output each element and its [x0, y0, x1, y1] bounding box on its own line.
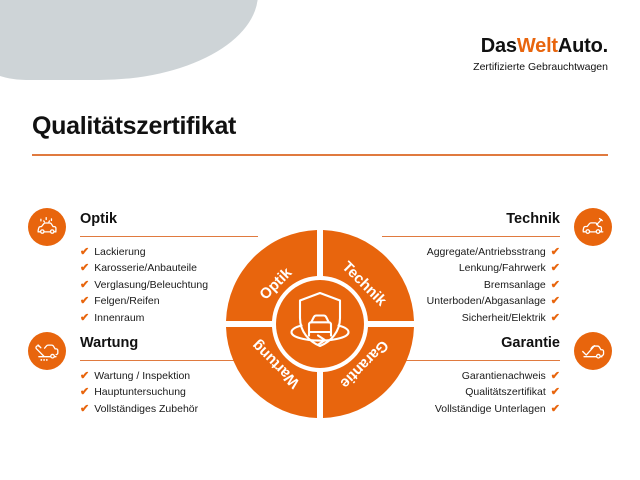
- list-item-label: Wartung / Inspektion: [94, 370, 190, 382]
- check-icon: ✔: [551, 246, 560, 258]
- brand-logo-das: Das: [481, 35, 517, 57]
- check-icon: ✔: [551, 386, 560, 398]
- list-item-label: Karosserie/Anbauteile: [94, 262, 197, 274]
- section-wartung-list: ✔Wartung / Inspektion ✔Hauptuntersuchung…: [28, 368, 258, 418]
- list-item-label: Garantienachweis: [462, 370, 546, 382]
- check-icon: ✔: [551, 312, 560, 324]
- section-optik-list: ✔Lackierung ✔Karosserie/Anbauteile ✔Verg…: [28, 244, 258, 327]
- brand-logo-welt: Welt: [517, 35, 558, 57]
- brand-logo-subtitle: Zertifizierte Gebrauchtwagen: [473, 62, 608, 73]
- section-wartung: Wartung ✔Wartung / Inspektion ✔Hauptunte…: [28, 330, 258, 417]
- list-item-label: Felgen/Reifen: [94, 295, 159, 307]
- list-item-label: Lenkung/Fahrwerk: [459, 262, 546, 274]
- list-item-label: Aggregate/Antriebsstrang: [427, 246, 546, 258]
- check-icon: ✔: [551, 403, 560, 415]
- list-item-label: Unterboden/Abgasanlage: [427, 295, 546, 307]
- list-item-label: Sicherheit/Elektrik: [462, 312, 546, 324]
- list-item-label: Bremsanlage: [484, 279, 546, 291]
- list-item-label: Vollständiges Zubehör: [94, 403, 198, 415]
- check-icon: ✔: [80, 262, 89, 274]
- section-optik: Optik ✔Lackierung ✔Karosserie/Anbauteile…: [28, 206, 258, 326]
- list-item-label: Innenraum: [94, 312, 144, 324]
- check-icon: ✔: [80, 312, 89, 324]
- check-icon: ✔: [80, 246, 89, 258]
- check-icon: ✔: [80, 370, 89, 382]
- check-icon: ✔: [551, 262, 560, 274]
- brand-logo-auto: Auto.: [558, 35, 608, 57]
- check-icon: ✔: [80, 403, 89, 415]
- car-open-hood-icon: [574, 208, 612, 246]
- section-garantie-list: Garantienachweis✔ Qualitätszertifikat✔ V…: [382, 368, 612, 418]
- section-garantie: Garantie Garantienachweis✔ Qualitätszert…: [382, 330, 612, 417]
- car-sparkle-icon: [28, 208, 66, 246]
- check-icon: ✔: [551, 295, 560, 307]
- list-item-label: Verglasung/Beleuchtung: [94, 279, 208, 291]
- brand-logo-wordmark: DasWeltAuto.: [473, 36, 608, 56]
- brand-logo: DasWeltAuto. Zertifizierte Gebrauchtwage…: [473, 36, 608, 73]
- check-icon: ✔: [80, 279, 89, 291]
- quality-wheel-diagram: Optik Technik Garantie Wartung: [226, 230, 414, 418]
- check-icon: ✔: [80, 295, 89, 307]
- check-icon: ✔: [80, 386, 89, 398]
- car-wrench-icon: [28, 332, 66, 370]
- section-technik: Technik Aggregate/Antriebsstrang✔ Lenkun…: [382, 206, 612, 326]
- list-item-label: Qualitätszertifikat: [465, 386, 546, 398]
- section-optik-heading: Optik: [80, 206, 258, 227]
- list-item-label: Lackierung: [94, 246, 145, 258]
- section-technik-list: Aggregate/Antriebsstrang✔ Lenkung/Fahrwe…: [382, 244, 612, 327]
- section-technik-heading: Technik: [382, 206, 560, 227]
- list-item-label: Vollständige Unterlagen: [435, 403, 546, 415]
- header-decoration-shape: [0, 0, 258, 80]
- page-title: Qualitätszertifikat: [32, 112, 236, 141]
- check-icon: ✔: [551, 370, 560, 382]
- page-title-divider: [32, 154, 608, 156]
- list-item-label: Hauptuntersuchung: [94, 386, 186, 398]
- check-icon: ✔: [551, 279, 560, 291]
- car-check-icon: [574, 332, 612, 370]
